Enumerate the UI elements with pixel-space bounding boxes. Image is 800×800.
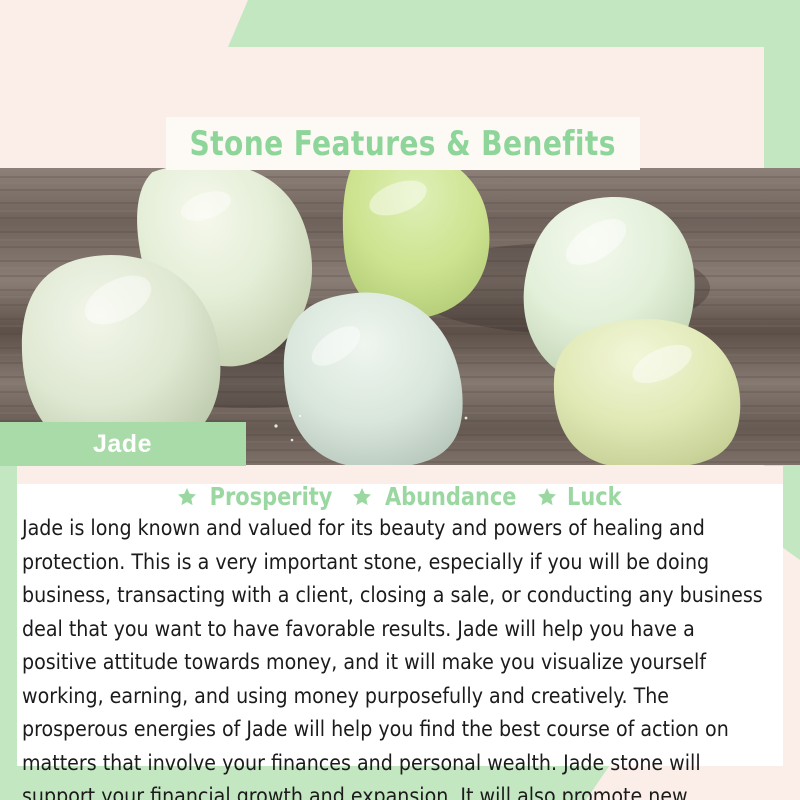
stone-description: Jade is long known and valued for its be… — [22, 512, 769, 800]
benefits-row: Prosperity Abundance Luck — [17, 482, 783, 511]
benefit-label: Prosperity — [210, 482, 333, 511]
jade-stones-photo — [0, 168, 800, 465]
page-title: Stone Features & Benefits — [190, 124, 616, 164]
benefit-item-luck: Luck — [536, 482, 624, 511]
benefit-item-abundance: Abundance — [351, 482, 521, 511]
stone-benefits-infographic: Stone Features & Benefits Jade Prosperit… — [0, 0, 800, 800]
content-panel: Prosperity Abundance Luck Jade is — [17, 466, 783, 766]
stone-name-label: Jade — [0, 430, 152, 459]
benefit-item-prosperity: Prosperity — [176, 482, 337, 511]
decorative-band-top-right — [228, 0, 800, 47]
benefit-label: Luck — [567, 482, 622, 511]
star-icon — [176, 486, 198, 508]
benefit-label: Abundance — [385, 482, 517, 511]
stone-name-band: Jade — [0, 422, 246, 466]
star-icon — [351, 486, 373, 508]
star-icon — [536, 486, 558, 508]
title-band: Stone Features & Benefits — [166, 117, 640, 170]
